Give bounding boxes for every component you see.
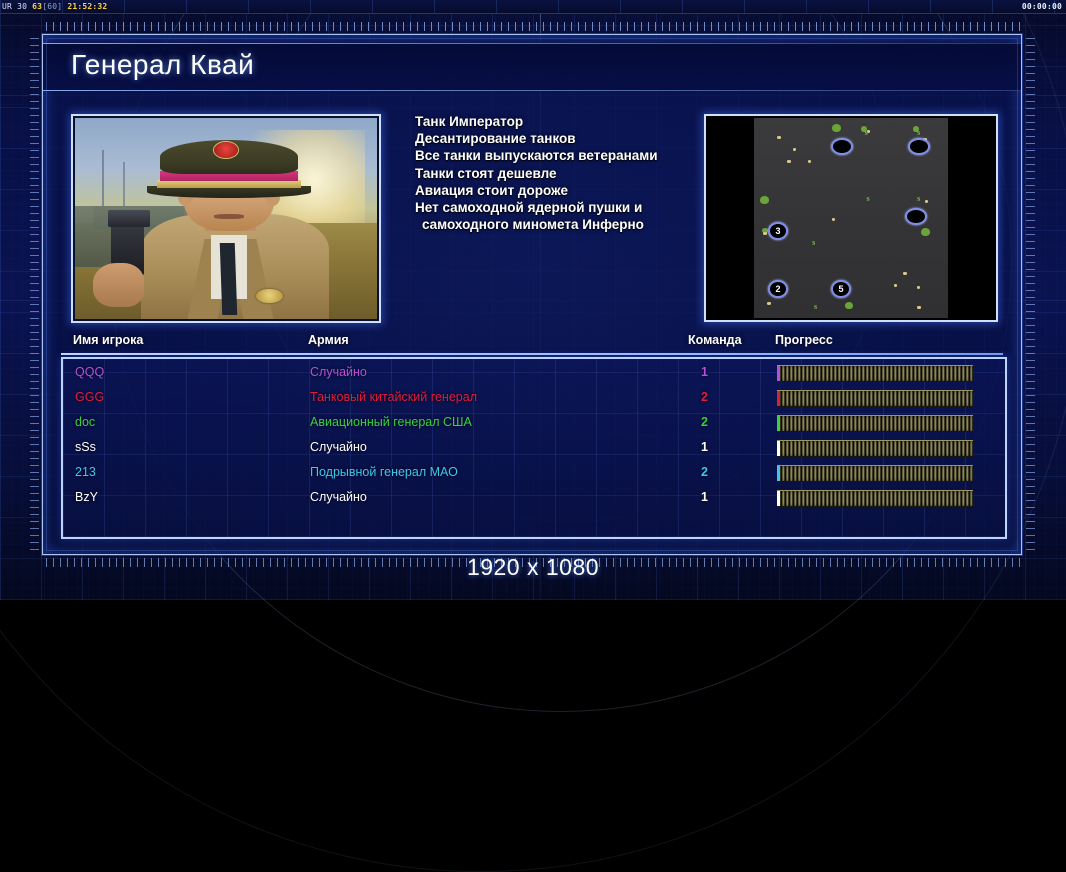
player-progress-bar — [777, 365, 973, 382]
debug-topbar: UR 30 63[60] 21:52:32 00:00:00 — [0, 0, 1066, 14]
stat-clock: 21:52:32 — [67, 2, 107, 11]
player-team[interactable]: 2 — [701, 390, 708, 404]
ruler-right — [1026, 38, 1035, 550]
minimap-frame[interactable]: s s s s s s 3 2 5 — [704, 114, 998, 322]
player-army[interactable]: Танковый китайский генерал — [310, 390, 477, 404]
progress-tip — [777, 466, 780, 481]
portrait-hand — [93, 263, 144, 307]
minimap-rock — [767, 302, 771, 305]
header-army: Армия — [308, 333, 349, 347]
minimap-shrub: s — [917, 128, 920, 137]
player-army[interactable]: Случайно — [310, 365, 367, 379]
ruler-left — [30, 38, 39, 550]
table-row[interactable]: 213 Подрывной генерал МАО 2 — [63, 461, 1005, 486]
description-line: самоходного миномета Инферно — [415, 216, 715, 233]
header-underline — [61, 353, 1003, 355]
stat-ur-label: UR — [2, 2, 12, 11]
progress-tip — [777, 391, 780, 406]
minimap-shrub: s — [865, 128, 868, 137]
player-name[interactable]: BzY — [75, 490, 98, 504]
table-row[interactable]: QQQ Случайно 1 — [63, 361, 1005, 386]
player-progress-bar — [777, 415, 973, 432]
title-divider-bottom — [43, 90, 1021, 91]
stat-ur-value: 30 — [17, 2, 27, 11]
title-divider-top — [43, 43, 1021, 44]
minimap-rock — [832, 218, 835, 221]
game-screen: UR 30 63[60] 21:52:32 00:00:00 Генерал К… — [0, 0, 1066, 600]
minimap-rock — [925, 200, 928, 203]
player-progress-bar — [777, 490, 973, 507]
minimap-shrub: s — [814, 302, 817, 311]
player-army[interactable]: Авиационный генерал США — [310, 415, 472, 429]
title-bar: Генерал Квай — [43, 43, 1021, 91]
minimap-start-position-3[interactable]: 3 — [768, 222, 788, 240]
minimap-shrub: s — [812, 238, 815, 247]
stat-fps: 63 — [32, 2, 42, 11]
general-portrait — [75, 118, 377, 319]
portrait-chest-badge — [256, 289, 283, 303]
player-list: QQQ Случайно 1 GGG Танковый китайский ге… — [61, 357, 1007, 539]
description-line: Десантирование танков — [415, 130, 715, 147]
player-army[interactable]: Случайно — [310, 490, 367, 504]
player-name[interactable]: sSs — [75, 440, 96, 454]
general-description: Танк Император Десантирование танков Все… — [415, 113, 715, 233]
portrait-pistol-slide — [108, 210, 150, 226]
minimap-rock — [777, 136, 781, 139]
minimap-rock — [917, 306, 921, 309]
description-line: Танки стоят дешевле — [415, 165, 715, 182]
player-table-header: Имя игрока Армия Команда Прогресс — [61, 333, 1003, 355]
player-team[interactable]: 1 — [701, 365, 708, 379]
table-row[interactable]: sSs Случайно 1 — [63, 436, 1005, 461]
minimap-start-position[interactable] — [831, 138, 853, 155]
player-progress-bar — [777, 440, 973, 457]
minimap-start-position-2[interactable]: 2 — [768, 280, 788, 298]
minimap-rock — [793, 148, 796, 151]
description-line: Нет самоходной ядерной пушки и — [415, 199, 715, 216]
minimap-shrub: s — [867, 194, 870, 203]
description-line: Танк Император — [415, 113, 715, 130]
page-title: Генерал Квай — [71, 49, 254, 81]
progress-tip — [777, 441, 780, 456]
portrait-mouth — [214, 214, 244, 218]
minimap-rock — [763, 232, 767, 235]
player-progress-bar — [777, 390, 973, 407]
main-panel: Генерал Квай — [42, 34, 1022, 555]
table-row[interactable]: GGG Танковый китайский генерал 2 — [63, 386, 1005, 411]
player-name[interactable]: doc — [75, 415, 95, 429]
header-team: Команда — [688, 333, 742, 347]
resolution-label: 1920 x 1080 — [0, 554, 1066, 581]
table-row[interactable]: BzY Случайно 1 — [63, 486, 1005, 511]
minimap-tree — [832, 124, 841, 132]
minimap[interactable]: s s s s s s 3 2 5 — [708, 118, 994, 318]
progress-tip — [777, 491, 780, 506]
player-name[interactable]: QQQ — [75, 365, 104, 379]
player-team[interactable]: 2 — [701, 415, 708, 429]
player-team[interactable]: 1 — [701, 490, 708, 504]
general-portrait-frame — [71, 114, 381, 323]
player-army[interactable]: Случайно — [310, 440, 367, 454]
header-progress: Прогресс — [775, 333, 833, 347]
minimap-tree — [921, 228, 930, 236]
minimap-tree — [845, 302, 853, 309]
portrait-tie — [220, 243, 238, 315]
match-timer: 00:00:00 — [1022, 2, 1062, 11]
progress-tip — [777, 366, 780, 381]
player-progress-bar — [777, 465, 973, 482]
minimap-start-position-5[interactable]: 5 — [831, 280, 851, 298]
ruler-top — [46, 22, 1020, 31]
topbar-grid — [0, 0, 1066, 13]
description-line: Все танки выпускаются ветеранами — [415, 147, 715, 164]
minimap-shrub: s — [917, 194, 920, 203]
header-player-name: Имя игрока — [73, 333, 143, 347]
minimap-rock — [894, 284, 897, 287]
player-team[interactable]: 1 — [701, 440, 708, 454]
player-team[interactable]: 2 — [701, 465, 708, 479]
progress-tip — [777, 416, 780, 431]
player-army[interactable]: Подрывной генерал МАО — [310, 465, 458, 479]
player-name[interactable]: GGG — [75, 390, 104, 404]
minimap-tree — [760, 196, 769, 204]
stat-fps-limit: [60] — [42, 2, 62, 11]
minimap-rock — [903, 272, 907, 275]
description-line: Авиация стоит дороже — [415, 182, 715, 199]
minimap-rock — [787, 160, 791, 163]
minimap-rock — [917, 286, 920, 289]
player-name[interactable]: 213 — [75, 465, 96, 479]
performance-stats: UR 30 63[60] 21:52:32 — [2, 2, 107, 11]
portrait-cap-gold-band — [157, 180, 302, 188]
table-row[interactable]: doc Авиационный генерал США 2 — [63, 411, 1005, 436]
minimap-rock — [808, 160, 811, 163]
